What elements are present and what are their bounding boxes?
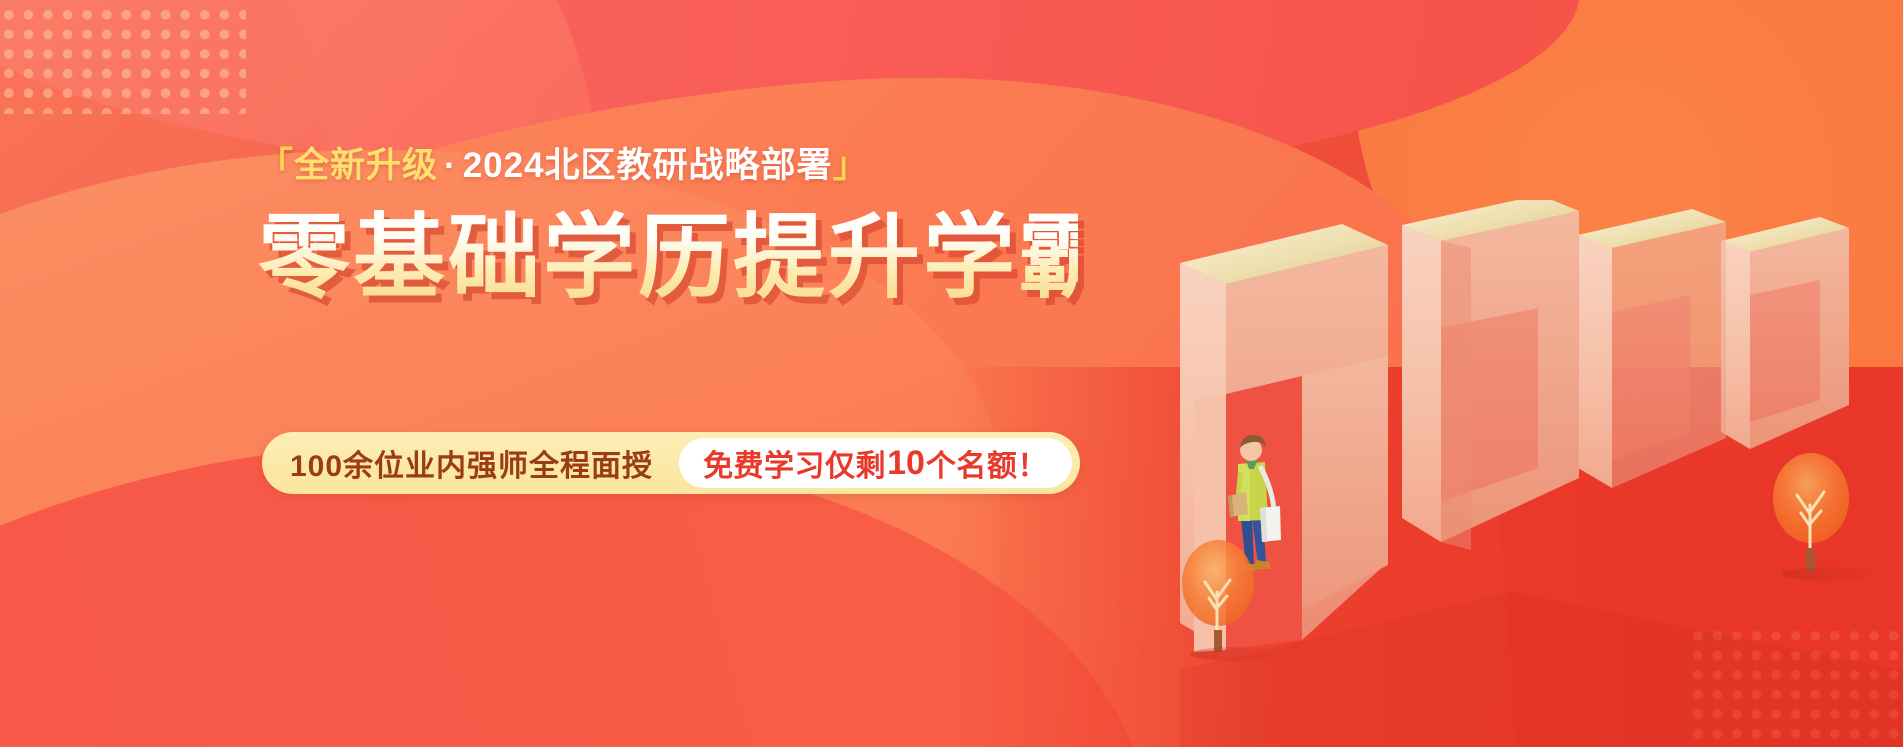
open-bracket: 「 <box>258 146 294 185</box>
dot-grid-top-left-icon <box>0 2 246 114</box>
wall-2 <box>1402 200 1579 550</box>
seats-suffix: 个名额！ <box>926 441 1048 485</box>
promo-banner: 「全新升级·2024北区教研战略部署」 零基础学历提升学霸班 100余位业内强师… <box>0 0 1903 747</box>
eyebrow-text: 「全新升级·2024北区教研战略部署」 <box>258 148 1078 183</box>
seats-left-badge[interactable]: 免费学习仅剩10个名额！ <box>679 438 1072 488</box>
close-bracket: 」 <box>833 146 869 185</box>
isometric-campus-illustration <box>1180 200 1903 747</box>
headline-block: 「全新升级·2024北区教研战略部署」 零基础学历提升学霸班 <box>258 148 1078 308</box>
seats-count: 10 <box>886 444 926 483</box>
badge-left-label: 100余位业内强师全程面授 <box>290 441 679 485</box>
page-title: 零基础学历提升学霸班 <box>258 209 1078 308</box>
tree-right <box>1773 453 1882 581</box>
eyebrow-highlight: 全新升级 <box>294 146 438 185</box>
eyebrow-separator: · <box>438 146 463 185</box>
wall-3 <box>1578 209 1726 488</box>
seats-prefix: 免费学习仅剩 <box>703 441 886 485</box>
wall-4 <box>1721 217 1849 449</box>
promo-badge: 100余位业内强师全程面授 免费学习仅剩10个名额！ <box>262 432 1080 494</box>
eyebrow-rest: 2024北区教研战略部署 <box>463 146 833 185</box>
